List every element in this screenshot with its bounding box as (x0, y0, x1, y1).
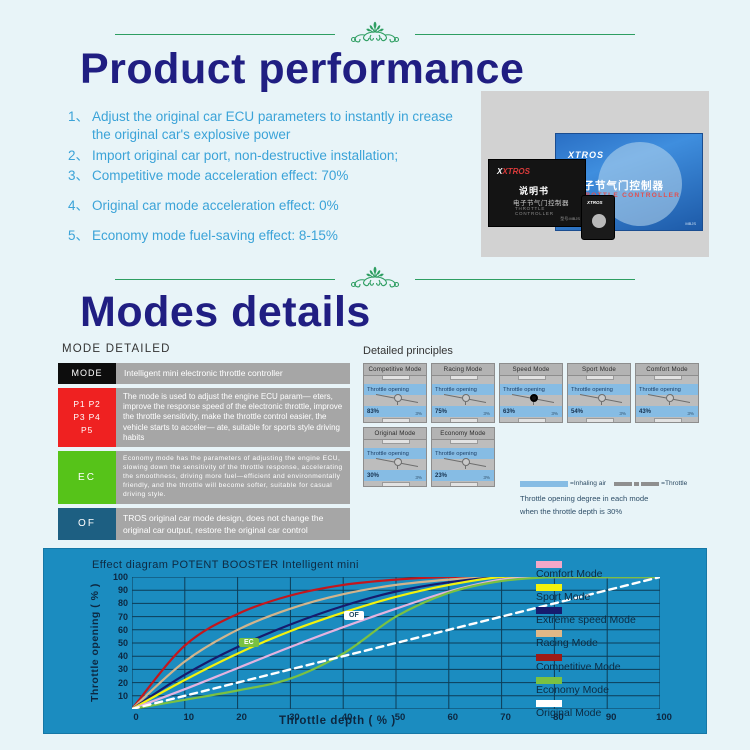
chart-x-tick-label: 0 (133, 712, 138, 723)
effect-diagram-chart: Effect diagram POTENT BOOSTER Intelligen… (43, 548, 707, 734)
mode-detailed-heading: MODE DETAILED (58, 343, 358, 355)
chart-y-tick-label: 100 (113, 572, 128, 582)
table-row: P1 P2 P3 P4 P5 The mode is used to adjus… (58, 388, 350, 447)
chart-y-tick-label: 10 (118, 691, 128, 701)
chart-y-tick-label: 30 (118, 664, 128, 674)
ornament-line-right (415, 279, 635, 280)
gauge-notch-bottom (382, 418, 410, 422)
list-item: 2、 Import original car port, non-destruc… (68, 147, 468, 165)
mode-card-title: Original Mode (363, 427, 427, 440)
mode-card-percent: 54% (568, 409, 583, 415)
table-row-value: Economy mode has the parameters of adjus… (116, 451, 350, 503)
gauge-notch-top (382, 376, 410, 380)
gauge-knob-icon (462, 458, 470, 466)
chart-legend-item: Comfort Mode (536, 561, 696, 581)
gauge-knob-icon (530, 394, 538, 402)
mode-card-gauge: Throttle opening23%3% (431, 440, 495, 487)
gauge-throttle-label: Throttle opening (364, 451, 409, 457)
chart-legend-item: Racing Mode (536, 630, 696, 650)
chart-legend-label: Original Mode (536, 707, 696, 720)
gauge-depth-label: 3% (415, 475, 422, 480)
chart-x-tick-label: 40 (342, 712, 353, 723)
list-item: 3、 Competitive mode acceleration effect:… (68, 167, 468, 185)
page-title-product-performance: Product performance (80, 45, 524, 94)
chart-legend: Comfort ModeSport ModeExtreme speed Mode… (536, 561, 696, 723)
chart-legend-swatch (536, 630, 562, 637)
chart-x-tick-label: 10 (184, 712, 195, 723)
mode-card: Sport ModeThrottle opening54%3% (567, 363, 631, 423)
detailed-principles-section: Detailed principles Competitive ModeThro… (363, 345, 715, 487)
chart-legend-swatch (536, 677, 562, 684)
gauge-notch-top (654, 376, 682, 380)
gauge-throttle-label: Throttle opening (568, 387, 613, 393)
mode-detailed-section: MODE DETAILED MODE Intelligent mini elec… (58, 343, 358, 544)
mode-card-percent: 75% (432, 409, 447, 415)
chart-legend-swatch (536, 607, 562, 614)
gauge-knob-icon (598, 394, 606, 402)
manual-model-code: 型号:MBJS (560, 216, 580, 222)
chart-legend-item: Economy Mode (536, 677, 696, 697)
list-item: 5、 Economy mode fuel-saving effect: 8-15… (68, 227, 468, 245)
list-item-label: Original car mode acceleration effect: 0… (92, 197, 468, 215)
list-item-number: 1、 (68, 108, 92, 144)
ornament-line-left (115, 34, 335, 35)
mode-card-gauge: Throttle opening83%3% (363, 376, 427, 423)
list-item-number: 5、 (68, 227, 92, 245)
gauge-throttle-label: Throttle opening (636, 387, 681, 393)
mode-card-percent: 43% (636, 409, 651, 415)
chart-annotation-ec: EC (239, 638, 259, 647)
chart-y-tick-label: 80 (118, 598, 128, 608)
gauge-notch-bottom (586, 418, 614, 422)
chart-legend-swatch (536, 584, 562, 591)
mode-card: Speed ModeThrottle opening63%3% (499, 363, 563, 423)
manual-title-cn: 说明书 (519, 184, 549, 197)
mode-card-gauge: Throttle opening43%3% (635, 376, 699, 423)
throttle-label: =Throttle (661, 480, 687, 487)
product-photo: XTROS 电子节气门控制器 THROTTLE CONTROLLER MBJS … (481, 91, 709, 257)
gauge-depth-label: 3% (551, 411, 558, 416)
list-item-label: Adjust the original car ECU parameters t… (92, 108, 468, 144)
mode-card-title: Competitive Mode (363, 363, 427, 376)
page-title-modes-details: Modes details (80, 288, 371, 337)
gauge-notch-bottom (518, 418, 546, 422)
chart-title: Effect diagram POTENT BOOSTER Intelligen… (92, 559, 359, 571)
throttle-dash-icon (614, 482, 659, 486)
gauge-knob-icon (394, 394, 402, 402)
gauge-notch-bottom (450, 418, 478, 422)
mode-card-title: Sport Mode (567, 363, 631, 376)
gauge-throttle-label: Throttle opening (432, 451, 477, 457)
gauge-knob-icon (666, 394, 674, 402)
mode-card-percent: 83% (364, 409, 379, 415)
table-row: OF TROS original car mode design, does n… (58, 508, 350, 541)
principles-legend-row: =Inhaling air =Throttle (520, 480, 735, 487)
chart-legend-item: Extreme speed Mode (536, 607, 696, 627)
ornament-divider-top (0, 21, 750, 47)
table-row-key: MODE (58, 363, 116, 384)
chart-y-tick-label: 40 (118, 651, 128, 661)
gauge-throttle-label: Throttle opening (500, 387, 545, 393)
principles-note-line-1: Throttle opening degree in each mode (520, 492, 735, 505)
mode-card-percent: 63% (500, 409, 515, 415)
gauge-notch-bottom (654, 418, 682, 422)
table-row-key: P1 P2 P3 P4 P5 (58, 388, 116, 447)
gauge-knob-icon (394, 458, 402, 466)
chart-legend-label: Competitive Mode (536, 661, 696, 674)
list-item: 4、 Original car mode acceleration effect… (68, 197, 468, 215)
chart-y-tick-label: 50 (118, 638, 128, 648)
gauge-notch-top (518, 376, 546, 380)
mode-card-percent: 23% (432, 473, 447, 479)
list-item-number: 4、 (68, 197, 92, 215)
chart-x-tick-label: 30 (289, 712, 300, 723)
chart-legend-item: Competitive Mode (536, 654, 696, 674)
mode-detailed-table: MODE Intelligent mini electronic throttl… (58, 363, 350, 540)
gauge-notch-top (586, 376, 614, 380)
chart-annotation-of: OF (344, 611, 364, 620)
ornament-line-left (115, 279, 335, 280)
chart-y-tick-label: 90 (118, 585, 128, 595)
mode-card-row-1: Competitive ModeThrottle opening83%3%Rac… (363, 363, 715, 423)
chart-x-tick-label: 70 (500, 712, 511, 723)
mode-card: Original ModeThrottle opening30%3% (363, 427, 427, 487)
chart-x-tick-label: 50 (395, 712, 406, 723)
chart-y-tick-label: 20 (118, 678, 128, 688)
table-row-key: EC (58, 451, 116, 503)
chart-y-tick-label: 60 (118, 625, 128, 635)
mode-card-row-2: Original ModeThrottle opening30%3%Econom… (363, 427, 715, 487)
chart-legend-item: Original Mode (536, 700, 696, 720)
principles-legend: =Inhaling air =Throttle Throttle opening… (520, 480, 735, 519)
gauge-depth-label: 3% (483, 411, 490, 416)
list-item-number: 2、 (68, 147, 92, 165)
principles-note-line-2: when the throttle depth is 30% (520, 505, 735, 518)
gauge-notch-top (450, 376, 478, 380)
ornament-line-right (415, 34, 635, 35)
list-item: 1、 Adjust the original car ECU parameter… (68, 108, 468, 144)
list-item-label: Import original car port, non-destructiv… (92, 147, 468, 165)
gauge-depth-label: 3% (483, 475, 490, 480)
product-manual: XXTROS 说明书 电子节气门控制器 THROTTLE CONTROLLER … (488, 159, 586, 227)
device-brand-logo: XTROS (587, 200, 603, 205)
ornament-flourish-icon (335, 21, 415, 47)
gauge-notch-bottom (450, 482, 478, 486)
chart-y-tick-label: 70 (118, 612, 128, 622)
mode-card-gauge: Throttle opening63%3% (499, 376, 563, 423)
mode-card: Comfort ModeThrottle opening43%3% (635, 363, 699, 423)
table-row-value: The mode is used to adjust the engine EC… (116, 388, 350, 447)
chart-legend-label: Sport Mode (536, 591, 696, 604)
mode-card: Racing ModeThrottle opening75%3% (431, 363, 495, 423)
manual-subtitle-en: THROTTLE CONTROLLER (515, 206, 585, 216)
inhaling-air-label: =Inhaling air (570, 480, 606, 487)
product-performance-list: 1、 Adjust the original car ECU parameter… (68, 108, 468, 248)
gauge-depth-label: 3% (619, 411, 626, 416)
detailed-principles-heading: Detailed principles (363, 345, 715, 357)
table-row-value: Intelligent mini electronic throttle con… (116, 363, 350, 384)
table-row-key: OF (58, 508, 116, 541)
chart-legend-item: Sport Mode (536, 584, 696, 604)
gauge-knob-icon (462, 394, 470, 402)
gauge-notch-top (450, 440, 478, 444)
mode-card-title: Speed Mode (499, 363, 563, 376)
table-row: MODE Intelligent mini electronic throttl… (58, 363, 350, 384)
gauge-notch-bottom (382, 482, 410, 486)
list-item-label: Economy mode fuel-saving effect: 8-15% (92, 227, 468, 245)
mode-card-gauge: Throttle opening54%3% (567, 376, 631, 423)
chart-y-ticks: 102030405060708090100 (104, 575, 128, 709)
mode-card-gauge: Throttle opening30%3% (363, 440, 427, 487)
chart-legend-label: Economy Mode (536, 684, 696, 697)
inhaling-air-swatch (520, 481, 568, 487)
manual-brand-logo: XXTROS (497, 167, 530, 176)
product-device-unit: XTROS (581, 195, 615, 240)
mode-card-title: Racing Mode (431, 363, 495, 376)
chart-legend-swatch (536, 561, 562, 568)
mode-card-gauge: Throttle opening75%3% (431, 376, 495, 423)
mode-card-percent: 30% (364, 473, 379, 479)
gauge-depth-label: 3% (687, 411, 694, 416)
gauge-notch-top (382, 440, 410, 444)
gauge-throttle-label: Throttle opening (432, 387, 477, 393)
table-row-value: TROS original car mode design, does not … (116, 508, 350, 541)
box-model-code: MBJS (685, 221, 696, 226)
list-item-number: 3、 (68, 167, 92, 185)
chart-legend-label: Racing Mode (536, 637, 696, 650)
chart-x-tick-label: 20 (236, 712, 247, 723)
chart-legend-label: Extreme speed Mode (536, 614, 696, 627)
mode-card-title: Economy Mode (431, 427, 495, 440)
gauge-throttle-label: Throttle opening (364, 387, 409, 393)
mode-card-title: Comfort Mode (635, 363, 699, 376)
mode-card: Competitive ModeThrottle opening83%3% (363, 363, 427, 423)
mode-card: Economy ModeThrottle opening23%3% (431, 427, 495, 487)
gauge-depth-label: 3% (415, 411, 422, 416)
table-row: EC Economy mode has the parameters of ad… (58, 451, 350, 503)
chart-y-axis-label: Throttle opening ( % ) (87, 579, 103, 707)
chart-legend-swatch (536, 654, 562, 661)
chart-legend-swatch (536, 700, 562, 707)
chart-x-tick-label: 60 (448, 712, 459, 723)
list-item-label: Competitive mode acceleration effect: 70… (92, 167, 468, 185)
chart-legend-label: Comfort Mode (536, 568, 696, 581)
device-button-icon (592, 214, 606, 228)
